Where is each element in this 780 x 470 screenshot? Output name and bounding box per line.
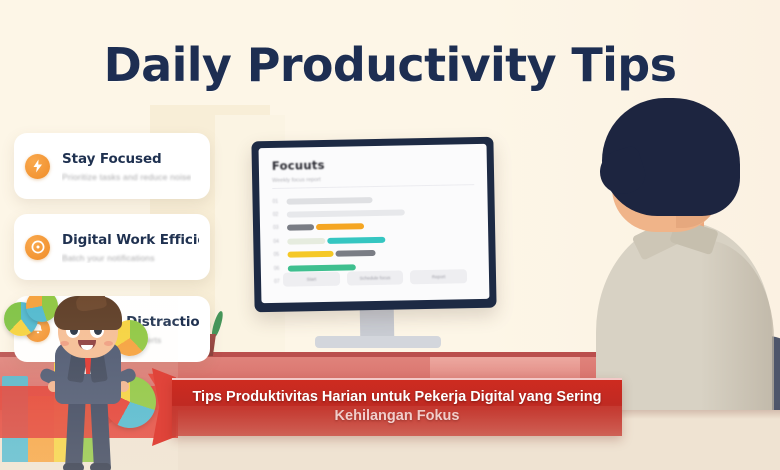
- lightning-bolt-icon: [25, 154, 50, 179]
- dashboard-bar-segment: [327, 237, 385, 244]
- dashboard-row-bar: [287, 224, 364, 231]
- tip-card-stay-focused[interactable]: Stay Focused Prioritize tasks and reduce…: [14, 133, 210, 199]
- tip-subtitle: Prioritize tasks and reduce noise: [62, 172, 191, 182]
- tip-subtitle: Batch your notifications: [62, 253, 199, 263]
- dashboard-row-bar: [286, 197, 372, 205]
- dashboard: Focuuts Weekly focus report 010203040506…: [259, 144, 490, 303]
- dashboard-row-label: 03: [273, 225, 287, 231]
- dashboard-bar-segment: [336, 250, 376, 257]
- dashboard-bar-segment: [288, 251, 334, 258]
- dashboard-divider: [272, 184, 474, 189]
- tip-title: Stay Focused: [62, 151, 191, 167]
- dashboard-row-bar: [287, 237, 385, 245]
- dashboard-bar-segment: [316, 224, 364, 231]
- dashboard-action-button-label: Start: [307, 277, 317, 282]
- dashboard-row-bar: [287, 209, 405, 217]
- cartoon-cheek: [104, 341, 113, 346]
- dashboard-row-bar: [288, 250, 376, 258]
- tip-title: Digital Work Efficiency: [62, 232, 199, 248]
- dashboard-action-button-label: Report: [432, 274, 446, 279]
- dashboard-subtitle: Weekly focus report: [272, 174, 474, 184]
- dashboard-title: Focuuts: [272, 155, 474, 173]
- dashboard-bar-segment: [287, 238, 325, 245]
- dashboard-action-button[interactable]: Start: [283, 272, 340, 287]
- monitor-screen: Focuuts Weekly focus report 010203040506…: [259, 144, 490, 303]
- dashboard-bar-segment: [288, 264, 356, 271]
- gear-icon: [25, 235, 50, 260]
- cartoon-cheek: [60, 341, 69, 346]
- scene-root: Daily Productivity Tips Focuuts Weekly f…: [0, 0, 780, 470]
- banner-lower-wash: [172, 406, 622, 436]
- dashboard-action-button[interactable]: Report: [410, 269, 467, 284]
- monitor: Focuuts Weekly focus report 010203040506…: [251, 137, 496, 313]
- tip-card-digital-work-efficiency[interactable]: Digital Work Efficiency Batch your notif…: [14, 214, 210, 280]
- dashboard-row-label: 02: [273, 212, 287, 218]
- dashboard-row-label: 04: [273, 239, 287, 245]
- cartoon-shoe: [63, 463, 84, 470]
- dashboard-bar-segment: [287, 209, 405, 217]
- dashboard-row-label: 06: [274, 265, 288, 271]
- dashboard-action-button[interactable]: Schedule focus: [347, 270, 404, 285]
- dashboard-row-bar: [288, 264, 356, 271]
- dashboard-row-label: 05: [274, 252, 288, 258]
- page-title: Daily Productivity Tips: [0, 38, 780, 92]
- dashboard-row-label: 01: [272, 198, 286, 204]
- dashboard-action-button-label: Schedule focus: [360, 275, 391, 281]
- dashboard-bar-segment: [287, 225, 314, 232]
- monitor-stand-base: [315, 336, 441, 348]
- cartoon-shoe: [90, 463, 111, 470]
- cartoon-businessman-overlay: [0, 296, 178, 470]
- dashboard-bar-segment: [286, 197, 372, 205]
